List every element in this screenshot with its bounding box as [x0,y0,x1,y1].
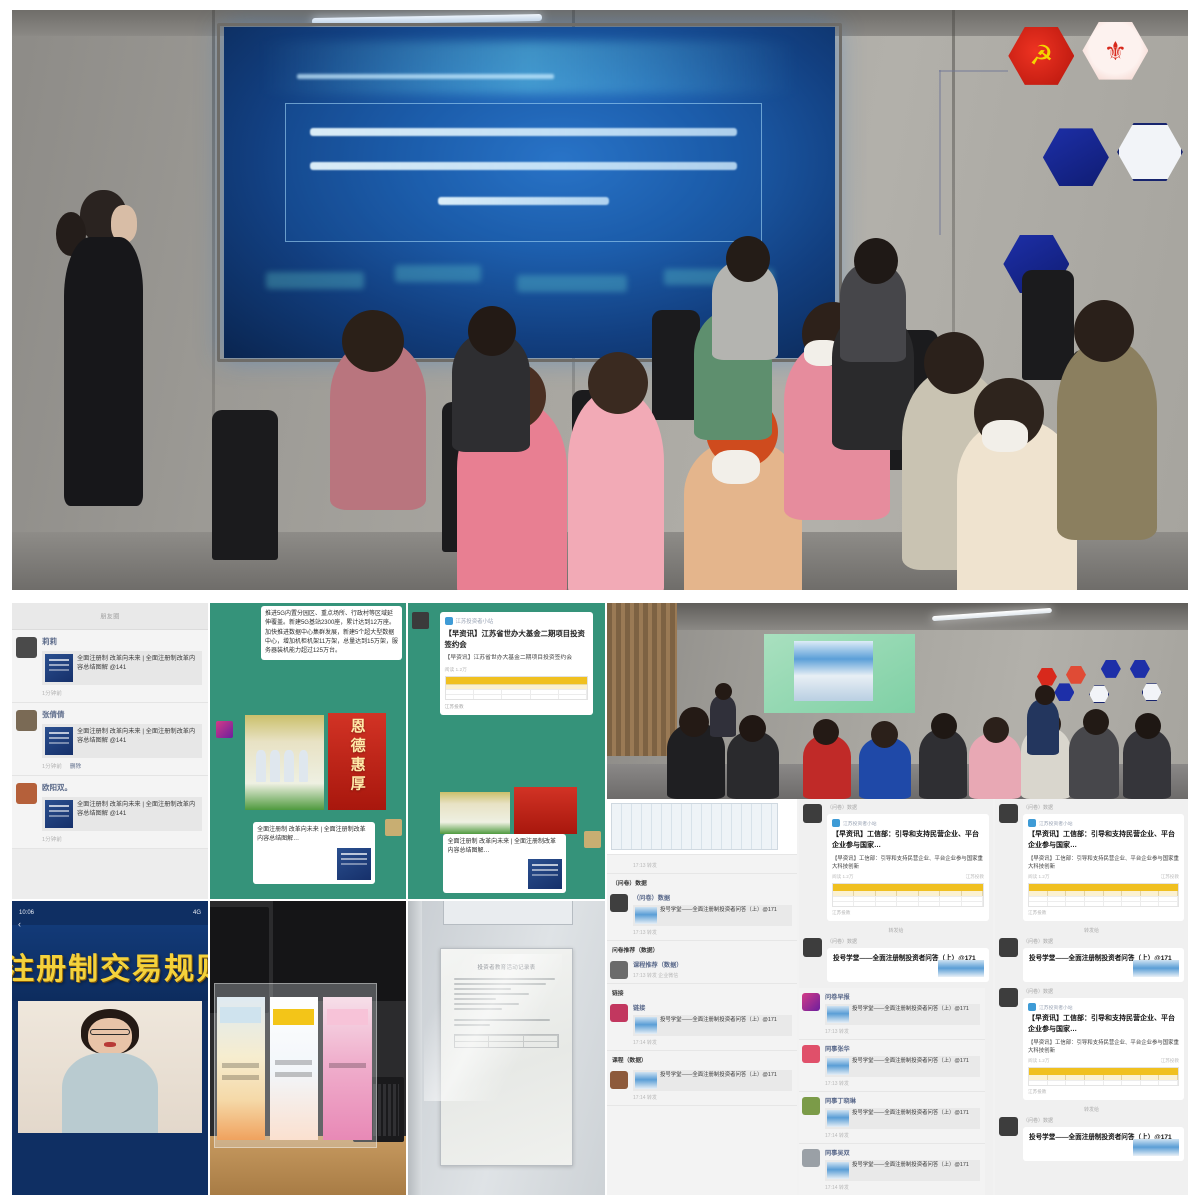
article-title: 投号学堂——全面注册制投资者问答（上）@171 [660,1017,777,1025]
avatar[interactable] [803,938,822,957]
list-item[interactable]: 张倩倩 全面注册制 改革向未来 | 全面注册制改革内容总结图解 @141 1分钟… [12,703,208,776]
moment-author: 莉莉 [42,636,202,647]
avatar [802,1149,820,1167]
moment-time: 1分钟前 [42,835,62,843]
status-time: 10:06 [19,910,34,916]
table-row [833,901,983,906]
avatar [610,961,628,979]
avatar [610,1071,628,1089]
table-subheader-row [1029,891,1178,896]
attendee-head [588,352,648,414]
article-source: 江苏投资者小站 [445,617,589,625]
article-thumbnail [827,1006,849,1023]
video-title-banner: 注册制交易规则 [12,925,208,1001]
shared-article-card[interactable]: 投号学堂——全面注册制投资者问答（上）@171 [825,1056,980,1077]
wall-notice-photo: 投资者教育活动记录表 [408,901,605,1195]
article-thumbnail [45,800,73,828]
moment-author: （问卷）数据 [633,893,792,902]
article-title: 投号学堂——全面注册制投资者问答（上）@171 [852,1162,969,1170]
section-label: 课程（数据） [607,1051,797,1066]
moment-time: 17:13 转发 企业微信 [633,972,792,979]
article-thumbnail [45,727,73,755]
list-item[interactable]: 链接 投号学堂——全面注册制投资者问答（上）@171 17:14 转发 [607,999,797,1051]
chat-bubble-article[interactable]: 投号学堂——全面注册制投资者问答（上）@171 [1023,948,1184,982]
notice-title: 投资者教育活动记录表 [454,963,558,971]
moment-author: 链接 [633,1003,792,1012]
article-source-tag: 江苏投教 [1161,1058,1179,1064]
avatar[interactable] [999,1117,1018,1136]
article-thumbnail [1133,1139,1179,1156]
wood-partition [607,603,677,756]
article-title: 投号学堂——全面注册制投资者问答（上）@171 [852,1110,969,1118]
hammer-sickle-icon: ☭ [1029,42,1053,69]
moment-author: 同事吴双 [825,1148,980,1157]
article-title: 全面注册制 改革向未来 | 全面注册制改革内容总结图解 @141 [77,654,199,682]
message-sender: （问卷）数据 [1023,1117,1184,1124]
avatar[interactable] [999,988,1018,1007]
brochure-holder [214,983,377,1148]
moment-time: 17:13 转发 [825,1028,980,1035]
moment-time: 17:14 转发 [633,1094,792,1101]
attendee [1069,725,1119,799]
moment-action[interactable]: 删除 [70,762,81,770]
list-item[interactable]: 问卷早报 投号学堂——全面注册制投资者问答（上）@171 17:13 转发 [799,988,985,1040]
article-thumbnail [635,1072,657,1089]
table-row [833,896,983,901]
shared-article-card[interactable]: 投号学堂——全面注册制投资者问答（上）@171 [633,1070,792,1091]
chat-bubble-text[interactable]: 推进5G内置分园区、重点场所、行政村等区域延伸覆盖。新建5G基站2300座，累计… [261,606,402,660]
torch-icon: ⚜ [1104,38,1127,64]
table-row [1029,1080,1178,1085]
article-thumbnail [1133,960,1179,977]
poster-image-red[interactable]: 恩 德 惠 厚 [328,713,387,811]
moments-header: 朋友圈 [12,603,208,630]
brochure [323,997,373,1140]
photo-collage: ☭ ⚜ [0,0,1200,1200]
phone-video-screenshot: 10:06 4G 注册制交易规则 ‹ [12,901,208,1195]
presenter-figure [710,695,736,737]
article-title: 投号学堂——全面注册制投资者问答（上）@171 [852,1006,969,1014]
attendee-head [679,707,709,737]
wechat-chat-green-right: 江苏投资者小站 【早资讯】江苏省世办大基金二期项目投资签约会 【早资讯】江苏省世… [408,603,605,899]
article-footer: 江苏投教 [1028,910,1179,916]
forward-stamp: 转发给 [999,1106,1184,1113]
wechat-column-right: （问卷）数据 江苏投资者小站 【早资讯】工信部：引导和支持民营企业、平台企业参与… [995,799,1188,1195]
presenter-figure [52,190,153,503]
presenter-body [64,237,143,506]
ceiling [607,603,1188,630]
shared-article-card[interactable]: 投号学堂——全面注册制投资者问答（上）@171 [633,905,792,926]
chat-bubble-article[interactable]: 全面注册制 改革向未来 | 全面注册制改革内容总结图解… [443,834,565,894]
slide-content [794,641,873,701]
table-header-row [446,677,588,684]
moment-time: 17:14 转发 [825,1132,980,1139]
attendee-head [342,310,404,372]
message-sender: （问卷）数据 [827,938,989,945]
framed-notice: 投资者教育活动记录表 [440,948,574,1166]
moment-time: 17:13 转发 [825,1080,980,1087]
shared-article-card[interactable]: 投号学堂——全面注册制投资者问答（上）@171 [633,1015,792,1036]
avatar [610,1004,628,1022]
chair [652,310,700,420]
table-header-row [1029,1068,1178,1075]
article-meta: 阅读 1.2万 江苏投教 [1028,874,1179,880]
attendee-head [854,238,898,284]
article-thumbnail [827,1162,849,1179]
chat-message[interactable]: （问卷）数据 江苏投资者小站 【早资讯】工信部：引导和支持民营企业、平台企业参与… [999,804,1184,921]
moment-author: 问卷早报 [825,992,980,1001]
table-header-row [833,884,983,891]
moment-time: 17:13 转发 [633,862,792,869]
avatar[interactable] [999,804,1018,823]
moment-time: 1分钟前 [42,689,62,697]
list-item[interactable]: 课程推荐（数据） 17:13 转发 企业微信 [607,956,797,984]
article-subtitle: 【早资讯】工信部：引导和支持民营企业、平台企业参与国家重大科技创新 [1028,1039,1179,1055]
shared-article-card[interactable]: 江苏投资者小站 【早资讯】工信部：引导和支持民营企业、平台企业参与国家… 【早资… [1023,998,1184,1100]
info-hex-white [1117,123,1183,181]
table-preview-image [607,799,797,855]
attendee-head [1035,685,1055,705]
moment-time: 17:14 转发 [633,1039,792,1046]
notice-table [454,1034,558,1048]
speaker-lips [104,1042,117,1047]
source-name: 江苏投资者小站 [1039,1004,1073,1011]
source-badge-icon [832,819,840,827]
table-subheader-row [1029,1075,1178,1080]
face-mask-icon [712,450,760,484]
moment-author: 同事丁晓琳 [825,1096,980,1105]
shared-article-card[interactable]: 全面注册制 改革向未来 | 全面注册制改革内容总结图解 @141 [42,724,202,758]
table-row [1029,896,1178,901]
article-read-count: 阅读 1.2万 [1028,874,1049,880]
article-title: 投号学堂——全面注册制投资者问答（上）@171 [660,1072,777,1080]
meeting-and-wechat-panel: 17:13 转发 （问卷）数据 （问卷）数据 投号学堂——全面注册制投资者问答（… [607,603,1188,1195]
speaker-body [62,1053,158,1134]
attendee [568,390,664,590]
table-row [455,1035,557,1041]
avatar [802,1045,820,1063]
moments-header-title: 朋友圈 [100,611,119,620]
moment-time: 1分钟前 [42,762,62,770]
wechat-chat-green-left: 推进5G内置分园区、重点场所、行政村等区域延伸覆盖。新建5G基站2300座，累计… [210,603,406,899]
moment-author: 张倩倩 [42,709,202,720]
article-footer: 江苏投教 [832,910,984,916]
shared-article-card[interactable]: 江苏投资者小站 【早资讯】工信部：引导和支持民营企业、平台企业参与国家… 【早资… [1023,814,1184,921]
attendee-head [468,306,516,356]
shared-article-card[interactable]: 江苏投资者小站 【早资讯】工信部：引导和支持民营企业、平台企业参与国家… 【早资… [827,814,989,921]
article-table [445,676,589,700]
article-subtitle: 【早资讯】工信部：引导和支持民营企业、平台企业参与国家重大科技创新 [1028,855,1179,871]
article-title: 【早资讯】工信部：引导和支持民营企业、平台企业参与国家… [1028,830,1179,851]
chat-message[interactable]: （问卷）数据 投号学堂——全面注册制投资者问答（上）@171 [803,938,989,982]
avatar[interactable] [803,804,822,823]
status-signal: 4G [193,910,201,916]
chat-message[interactable]: （问卷）数据 江苏投资者小站 【早资讯】工信部：引导和支持民营企业、平台企业参与… [803,804,989,921]
torch-emblem-hex: ⚜ [1082,22,1148,80]
moment-time: 17:13 转发 [633,929,792,936]
table-row [446,694,588,699]
article-table [1028,1067,1179,1086]
attendee [919,729,967,799]
table-header-row [1029,884,1178,891]
list-item[interactable]: 同事吴双 投号学堂——全面注册制投资者问答（上）@171 17:14 转发 [799,1144,985,1195]
avatar [16,637,37,658]
section-label: （问卷）数据 [607,874,797,889]
article-subtitle: 【早资讯】工信部：引导和支持民营企业、平台企业参与国家重大科技创新 [832,855,984,871]
article-source: 江苏投资者小站 [1028,819,1179,827]
source-badge-icon [1028,1003,1036,1011]
poster-image-red[interactable] [514,787,577,834]
wechat-and-site-collage: 朋友圈 莉莉 全面注册制 改革向未来 | 全面注册制改革内容总结图解 @141 … [12,603,605,1195]
attendee [1057,340,1157,540]
article-thumbnail [635,1017,657,1034]
moment-author: 欧阳双。 [42,782,202,793]
wechat-column-middle: （问卷）数据 江苏投资者小站 【早资讯】工信部：引导和支持民营企业、平台企业参与… [799,799,993,1195]
phone-status-bar: 10:06 4G [12,901,208,925]
avatar[interactable] [412,612,429,629]
list-item[interactable]: 17:13 转发 [607,855,797,874]
bubble-article-title: 全面注册制 改革向未来 | 全面注册制改革内容总结图解… [447,838,561,857]
moment-meta: 1分钟前 [42,835,202,843]
forward-stamp: 转发给 [803,927,989,934]
message-sender: （问卷）数据 [1023,804,1184,811]
article-title: 全面注册制 改革向未来 | 全面注册制改革内容总结图解 @141 [77,800,199,828]
source-name: 江苏投资者小站 [456,617,494,625]
article-title: 投号学堂——全面注册制投资者问答（上）@171 [852,1058,969,1066]
chat-bubble-article[interactable]: 投号学堂——全面注册制投资者问答（上）@171 [827,948,989,982]
avatar[interactable] [999,938,1018,957]
avatar [802,993,820,1011]
article-footer: 江苏投教 [445,703,589,710]
article-meta: 阅读 1.2万 江苏投教 [832,874,984,880]
article-source-tag: 江苏投教 [1161,874,1179,880]
back-icon[interactable]: ‹ [18,919,21,929]
attendee-head [1083,709,1109,735]
message-sender: （问卷）数据 [1023,938,1184,945]
lecture-hall-photo: ☭ ⚜ [12,10,1188,590]
attendee-head [1135,713,1161,739]
chat-message[interactable]: （问卷）数据 投号学堂——全面注册制投资者问答（上）@171 [999,938,1184,982]
section-label: 问卷推荐（数据） [607,941,797,956]
article-source: 江苏投资者小站 [1028,1003,1179,1011]
article-read-count: 阅读 1.2万 [1028,1058,1049,1064]
article-thumbnail [337,848,371,880]
shared-article-card[interactable]: 投号学堂——全面注册制投资者问答（上）@171 [825,1108,980,1129]
article-read-count: 阅读 1.2万 [832,874,853,880]
attendee-head [924,332,984,394]
face-mask-icon [982,420,1028,452]
article-meta: 阅读 1.2万 [445,666,589,673]
article-title: 【早资讯】工信部：引导和支持民营企业、平台企业参与国家… [1028,1014,1179,1035]
attendee [1123,729,1171,799]
source-badge-icon [445,617,453,625]
chat-bubble-article[interactable]: 全面注册制 改革向未来 | 全面注册制改革内容总结图解… [253,822,375,884]
info-hex-blue [1043,128,1109,186]
chat-bubble-article[interactable]: 投号学堂——全面注册制投资者问答（上）@171 [1023,1127,1184,1161]
projector-screen [764,634,915,712]
wechat-columns-grid: 17:13 转发 （问卷）数据 （问卷）数据 投号学堂——全面注册制投资者问答（… [607,799,1188,1195]
chair [212,410,278,560]
avatar[interactable] [216,721,233,738]
article-title: 全面注册制 改革向未来 | 全面注册制改革内容总结图解 @141 [77,727,199,755]
section-label: 链接 [607,984,797,999]
source-name: 江苏投资者小站 [843,820,877,827]
bubble-article-title: 全面注册制 改革向未来 | 全面注册制改革内容总结图解… [257,826,371,845]
attendee-head [739,715,766,742]
speaker-face [88,1018,132,1055]
article-title: 【早资讯】江苏省世办大基金二期项目投资签约会 [445,628,589,650]
list-item[interactable]: 莉莉 全面注册制 改革向未来 | 全面注册制改革内容总结图解 @141 1分钟前 [12,630,208,703]
article-source: 江苏投资者小站 [832,819,984,827]
forward-stamp: 转发给 [999,927,1184,934]
party-emblem-hex: ☭ [1008,27,1074,85]
article-thumbnail [635,907,657,924]
table-row [446,689,588,694]
article-table [832,883,984,907]
article-thumbnail [938,960,984,977]
message-sender: （问卷）数据 [1023,988,1184,995]
moment-author: 同事张华 [825,1044,980,1053]
article-thumbnail [45,654,73,682]
wechat-column-left: 17:13 转发 （问卷）数据 （问卷）数据 投号学堂——全面注册制投资者问答（… [607,799,797,1195]
poster-image-green[interactable] [440,792,511,833]
attendee-head [931,713,957,739]
article-meta: 阅读 1.2万 江苏投教 [1028,1058,1179,1064]
source-name: 江苏投资者小站 [1039,820,1073,827]
avatar [16,710,37,731]
chat-message[interactable]: （问卷）数据 投号学堂——全面注册制投资者问答（上）@171 [999,1117,1184,1161]
list-item[interactable]: 同事丁晓琳 投号学堂——全面注册制投资者问答（上）@171 17:14 转发 [799,1092,985,1144]
list-item[interactable]: （问卷）数据 投号学堂——全面注册制投资者问答（上）@171 17:13 转发 [607,889,797,941]
avatar[interactable] [385,819,402,836]
chat-message[interactable]: （问卷）数据 江苏投资者小站 【早资讯】工信部：引导和支持民营企业、平台企业参与… [999,988,1184,1100]
article-subtitle: 【早资讯】江苏省世办大基金二期项目投资签约会 [445,654,589,663]
shared-article-card[interactable]: 江苏投资者小站 【早资讯】江苏省世办大基金二期项目投资签约会 【早资讯】江苏省世… [440,612,594,715]
presenter-head [715,683,732,700]
poster-text: 恩 德 惠 厚 [348,718,365,791]
attendee-head [813,719,839,745]
article-thumbnail [827,1058,849,1075]
avatar [16,783,37,804]
moment-meta: 1分钟前 [42,689,202,697]
list-item[interactable]: 同事张华 投号学堂——全面注册制投资者问答（上）@171 17:13 转发 [799,1040,985,1092]
training-room-photo [607,603,1188,799]
attendee-head [726,236,770,282]
banner-title: 注册制交易规则 [12,944,208,988]
table-row [1029,901,1178,906]
shared-article-card[interactable]: 全面注册制 改革向未来 | 全面注册制改革内容总结图解 @141 [42,797,202,831]
avatar[interactable] [584,831,601,848]
avatar [610,894,628,912]
moment-author: 课程推荐（数据） [633,960,792,969]
article-thumbnail [827,1110,849,1127]
table-row [455,1041,557,1047]
source-badge-icon [1028,819,1036,827]
chair [1022,270,1074,380]
moment-time: 17:14 转发 [825,1184,980,1191]
desk-brochure-photo [210,901,406,1195]
video-frame[interactable] [18,1001,202,1133]
attendee-head [871,721,898,748]
table-subheader-row [833,891,983,896]
article-table [1028,883,1179,907]
article-title: 投号学堂——全面注册制投资者问答（上）@171 [660,907,777,915]
article-source-tag: 江苏投教 [966,874,984,880]
moment-meta: 1分钟前 删除 [42,762,202,770]
upper-frame [443,901,573,925]
list-item[interactable]: 欧阳双。 全面注册制 改革向未来 | 全面注册制改革内容总结图解 @141 1分… [12,776,208,849]
avatar [802,1097,820,1115]
list-item[interactable]: 投号学堂——全面注册制投资者问答（上）@171 17:14 转发 [607,1066,797,1106]
attendee-head [983,717,1009,743]
article-thumbnail [528,859,562,889]
article-footer: 江苏投教 [1028,1089,1179,1095]
attendee-head [1074,300,1134,362]
brochure [217,997,265,1140]
bubble-message: 推进5G内置分园区、重点场所、行政村等区域延伸覆盖。新建5G基站2300座，累计… [265,610,398,656]
article-title: 【早资讯】工信部：引导和支持民营企业、平台企业参与国家… [832,830,984,851]
standing-attendee [1027,699,1059,755]
shared-article-card[interactable]: 全面注册制 改革向未来 | 全面注册制改革内容总结图解 @141 [42,651,202,685]
brochure [270,997,318,1140]
wechat-moments-list: 朋友圈 莉莉 全面注册制 改革向未来 | 全面注册制改革内容总结图解 @141 … [12,603,208,899]
shared-article-card[interactable]: 投号学堂——全面注册制投资者问答（上）@171 [825,1004,980,1025]
poster-image-green[interactable] [245,715,323,810]
party-culture-wall-board: ☭ ⚜ [929,22,1176,289]
shared-article-card[interactable]: 投号学堂——全面注册制投资者问答（上）@171 [825,1160,980,1181]
wall-pillar [408,901,422,1195]
glasses-icon [90,1029,131,1036]
message-sender: （问卷）数据 [827,804,989,811]
